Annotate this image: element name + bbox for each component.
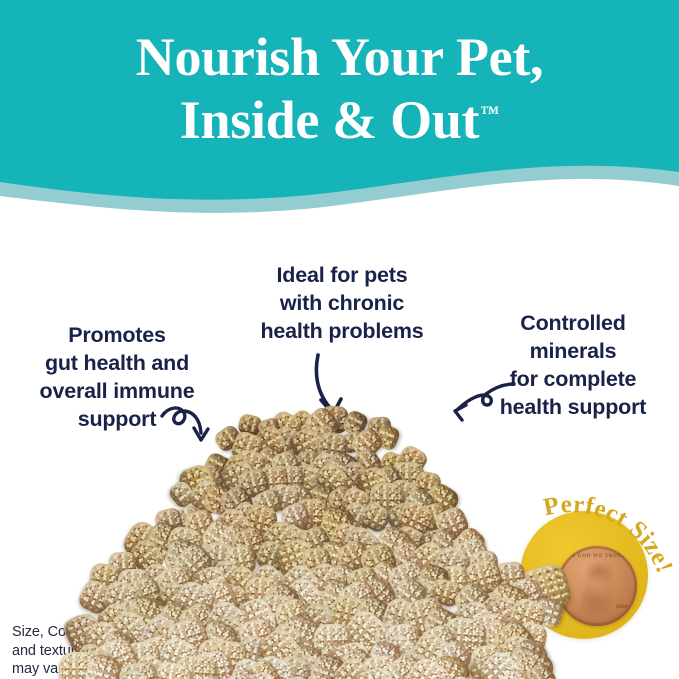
callout-left-line-2: gut health and bbox=[8, 350, 226, 378]
headline-line-2: Inside & Out bbox=[180, 90, 479, 150]
perfect-size-text: Perfect Size! bbox=[541, 491, 678, 577]
svg-text:Perfect Size!: Perfect Size! bbox=[541, 491, 678, 577]
callout-right-line-2: minerals bbox=[468, 338, 678, 366]
callout-right-line-4: health support bbox=[468, 394, 678, 422]
callout-left-line-1: Promotes bbox=[8, 322, 226, 350]
page-title: Nourish Your Pet, Inside & Out™ bbox=[0, 26, 679, 151]
callout-center: Ideal for pets with chronic health probl… bbox=[233, 262, 451, 346]
callout-center-line-1: Ideal for pets bbox=[233, 262, 451, 290]
header-banner: Nourish Your Pet, Inside & Out™ bbox=[0, 0, 679, 215]
callout-right-line-1: Controlled bbox=[468, 310, 678, 338]
callout-center-line-3: health problems bbox=[233, 318, 451, 346]
callout-right: Controlled minerals for complete health … bbox=[468, 310, 678, 422]
callout-left-line-4: support bbox=[8, 406, 226, 434]
headline-line-1: Nourish Your Pet, bbox=[0, 26, 679, 89]
product-infographic: Nourish Your Pet, Inside & Out™ Promotes… bbox=[0, 0, 679, 679]
callout-center-line-2: with chronic bbox=[233, 290, 451, 318]
trademark-symbol: ™ bbox=[480, 103, 499, 124]
callout-right-line-3: for complete bbox=[468, 366, 678, 394]
callout-left-line-3: overall immune bbox=[8, 378, 226, 406]
callout-left: Promotes gut health and overall immune s… bbox=[8, 322, 226, 434]
